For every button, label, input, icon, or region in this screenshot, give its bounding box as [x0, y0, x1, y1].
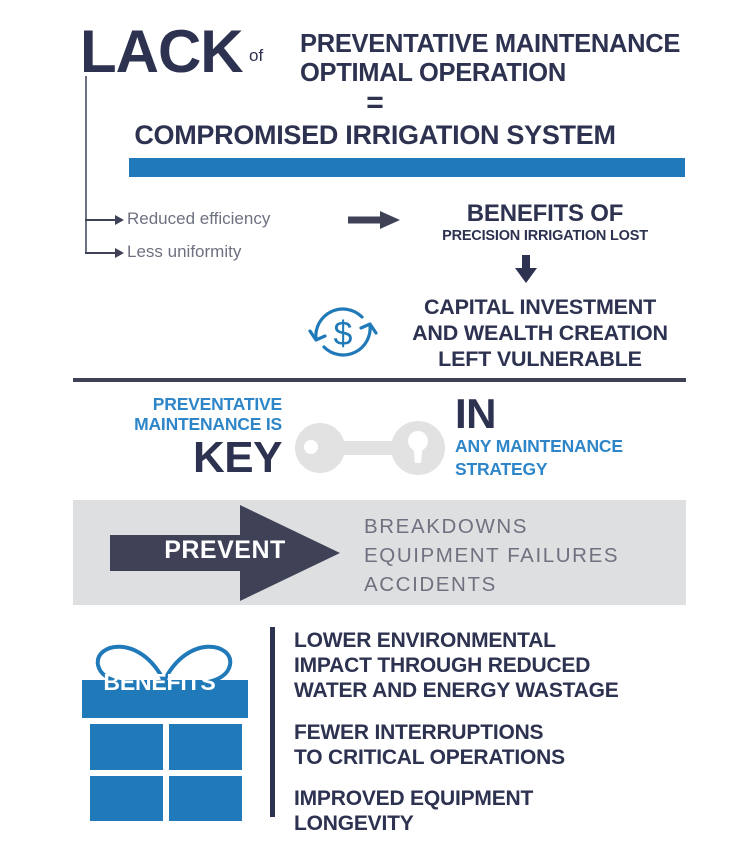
dollar-symbol-glyph: $	[334, 315, 353, 353]
gift-box-icon	[80, 625, 250, 821]
right-arrow-icon	[348, 211, 400, 229]
in-word: IN	[455, 394, 690, 434]
key-word: KEY	[70, 436, 282, 480]
key-left-text: PREVENTATIVE MAINTENANCE IS KEY	[70, 395, 282, 480]
benefit-line: IMPROVED EQUIPMENT	[294, 786, 694, 811]
gift-box-label: BENEFITS	[82, 671, 237, 694]
section-lack-of: LACK of PREVENTATIVE MAINTENANCE OPTIMAL…	[0, 0, 750, 190]
benefits-list-vertical-rule	[270, 627, 275, 817]
lack-headline-lines: PREVENTATIVE MAINTENANCE OPTIMAL OPERATI…	[300, 30, 690, 87]
blue-underline-bar	[129, 158, 685, 177]
infographic-canvas: LACK of PREVENTATIVE MAINTENANCE OPTIMAL…	[0, 0, 750, 857]
branch-arm-1	[85, 219, 117, 221]
branch-label-reduced-efficiency: Reduced efficiency	[127, 209, 270, 229]
equals-sign: =	[0, 88, 750, 118]
benefit-line: TO CRITICAL OPERATIONS	[294, 745, 694, 770]
section-divider	[73, 378, 686, 382]
benefits-of-title: BENEFITS OF	[400, 200, 690, 228]
of-connector-word: of	[249, 46, 263, 66]
key-left-line-1: PREVENTATIVE	[70, 395, 282, 415]
down-arrow-icon	[512, 255, 540, 283]
prevent-label: PREVENT	[140, 538, 310, 563]
benefit-line: IMPACT THROUGH REDUCED	[294, 653, 694, 678]
branch-arm-2	[85, 252, 117, 254]
capital-investment-text: CAPITAL INVESTMENT AND WEALTH CREATION L…	[390, 294, 690, 373]
prevent-items-list: BREAKDOWNS EQUIPMENT FAILURES ACCIDENTS	[364, 512, 619, 599]
branch-label-less-uniformity: Less uniformity	[127, 242, 241, 262]
branch-arrow-head-1-icon	[115, 215, 124, 225]
benefits-list: LOWER ENVIRONMENTAL IMPACT THROUGH REDUC…	[294, 628, 694, 852]
prevent-item: EQUIPMENT FAILURES	[364, 541, 619, 570]
dollar-cycle-icon: $	[306, 295, 380, 369]
lack-headline-word: LACK	[80, 22, 243, 82]
benefit-item: LOWER ENVIRONMENTAL IMPACT THROUGH REDUC…	[294, 628, 694, 704]
key-and-keyhole-icon	[293, 418, 445, 478]
benefit-item: FEWER INTERRUPTIONS TO CRITICAL OPERATIO…	[294, 720, 694, 770]
benefit-line: LOWER ENVIRONMENTAL	[294, 628, 694, 653]
key-left-line-2: MAINTENANCE IS	[70, 415, 282, 435]
precision-irrigation-lost-subtitle: PRECISION IRRIGATION LOST	[400, 228, 690, 244]
compromised-system-text: COMPROMISED IRRIGATION SYSTEM	[0, 120, 750, 151]
key-right-text: IN ANY MAINTENANCE STRATEGY	[455, 394, 690, 480]
headline-line-2: OPTIMAL OPERATION	[300, 59, 690, 88]
key-right-line-1: ANY MAINTENANCE	[455, 437, 690, 457]
key-right-line-2: STRATEGY	[455, 460, 690, 480]
capital-line-1: CAPITAL INVESTMENT	[390, 294, 690, 320]
benefit-line: WATER AND ENERGY WASTAGE	[294, 678, 694, 703]
headline-line-1: PREVENTATIVE MAINTENANCE	[300, 30, 690, 59]
prevent-item: ACCIDENTS	[364, 570, 619, 599]
capital-line-3: LEFT VULNERABLE	[390, 346, 690, 372]
benefit-line: FEWER INTERRUPTIONS	[294, 720, 694, 745]
benefit-item: IMPROVED EQUIPMENT LONGEVITY	[294, 786, 694, 836]
capital-line-2: AND WEALTH CREATION	[390, 320, 690, 346]
benefit-line: LONGEVITY	[294, 811, 694, 836]
branch-arrow-head-2-icon	[115, 248, 124, 258]
prevent-item: BREAKDOWNS	[364, 512, 619, 541]
branch-stem-line	[85, 76, 87, 253]
